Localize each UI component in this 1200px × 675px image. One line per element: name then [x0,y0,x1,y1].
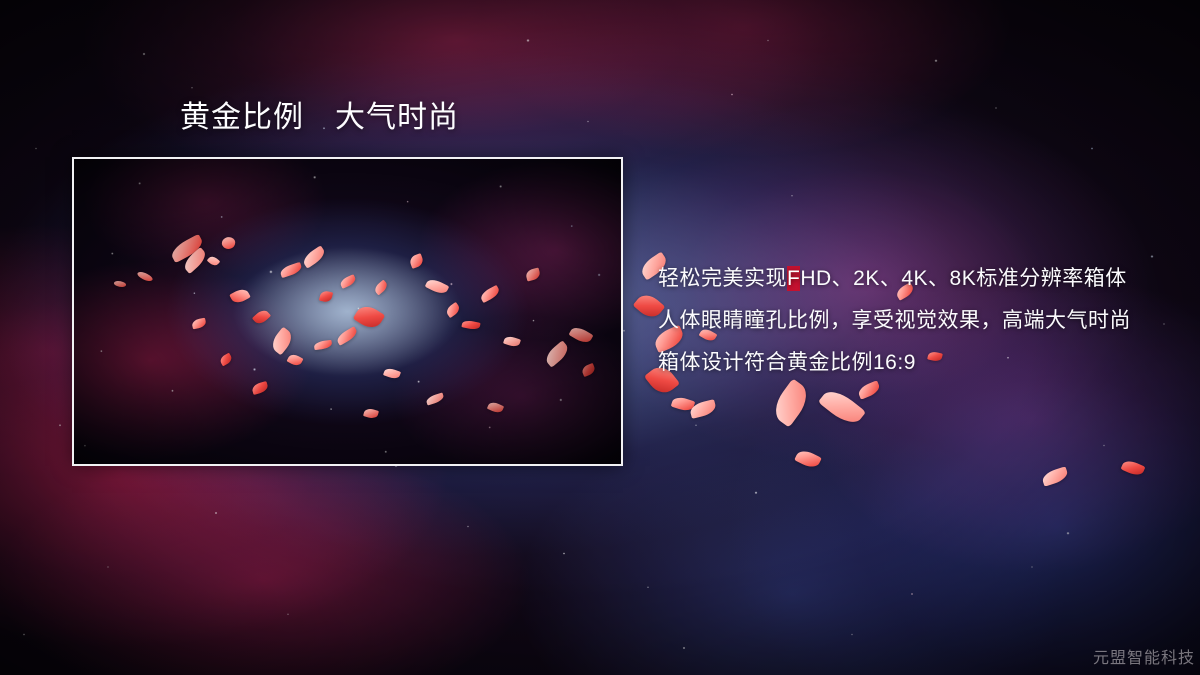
panel-vignette [74,159,621,464]
panel-image [74,159,621,464]
body-line-3: 箱体设计符合黄金比例16:9 [658,342,1178,384]
selected-character-highlight: F [787,266,800,291]
image-frame-panel [72,157,623,466]
presentation-slide: 黄金比例 大气时尚 [0,0,1200,675]
body-line-2: 人体眼睛瞳孔比例，享受视觉效果，高端大气时尚 [658,300,1178,342]
watermark-text: 元盟智能科技 [1093,644,1195,668]
slide-title: 黄金比例 大气时尚 [180,101,459,136]
body-line-1: 轻松完美实现FHD、2K、4K、8K标准分辨率箱体 [658,258,1178,300]
body-line-1-post: HD、2K、4K、8K标准分辨率箱体 [800,267,1126,290]
body-text-block: 轻松完美实现FHD、2K、4K、8K标准分辨率箱体 人体眼睛瞳孔比例，享受视觉效… [658,258,1178,384]
body-line-1-pre: 轻松完美实现 [658,267,787,290]
